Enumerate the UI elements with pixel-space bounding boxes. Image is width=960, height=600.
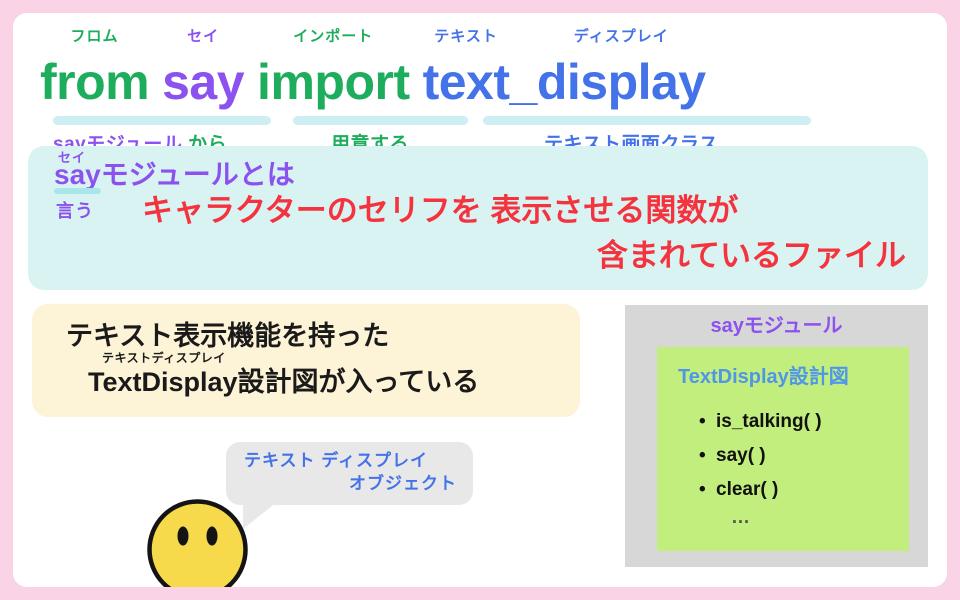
- code-title-block: フロムfromセイsayインポートimportテキストtext_ディスプレイdi…: [28, 28, 938, 158]
- code-token-underscore: _: [510, 54, 537, 110]
- method-list-ellipsis: …: [731, 507, 752, 529]
- code-token-from-text: from: [40, 54, 149, 110]
- method-name: say( ): [716, 445, 766, 466]
- ruby-text: テキスト: [434, 29, 498, 45]
- list-item: •say( ): [699, 439, 822, 473]
- ruby-sei: セイ: [58, 141, 86, 175]
- code-token-say: セイsay: [162, 54, 244, 110]
- definition-line-2: 含まれているファイル: [597, 237, 906, 275]
- slide-root: フロムfromセイsayインポートimportテキストtext_ディスプレイdi…: [0, 0, 960, 600]
- ruby-say: セイ: [187, 29, 219, 45]
- method-name: clear( ): [716, 479, 778, 500]
- say-module-panel: sayモジュール TextDisplay設計図 •is_talking( ) •…: [625, 305, 928, 567]
- bubble-line-2: オブジェクト: [349, 473, 457, 495]
- code-token-display-text: display: [537, 54, 706, 110]
- text-display-description-box: テキスト表示機能を持った テキストディスプレイ TextDisplay設計図が入…: [32, 304, 580, 417]
- method-list: •is_talking( ) •say( ) •clear( ): [699, 405, 822, 507]
- code-statement: フロムfromセイsayインポートimportテキストtext_ディスプレイdi…: [40, 54, 706, 110]
- ruby-from: フロム: [71, 29, 119, 45]
- say-keyword: セイ say: [54, 158, 101, 192]
- bubble-line-1: テキスト ディスプレイ: [244, 450, 428, 472]
- list-item: •clear( ): [699, 473, 822, 507]
- ruby-display: ディスプレイ: [574, 29, 669, 45]
- code-token-text-text: text: [423, 54, 510, 110]
- underline-bar-text-display: [483, 116, 811, 125]
- ruby-text-display: テキストディスプレイ: [102, 351, 226, 365]
- smiley-face-icon: [146, 498, 249, 587]
- underline-bar-import: [293, 116, 468, 125]
- slide-canvas: フロムfromセイsayインポートimportテキストtext_ディスプレイdi…: [13, 13, 947, 587]
- method-name: is_talking( ): [716, 411, 822, 432]
- ruby-import: インポート: [293, 29, 373, 45]
- bullet-icon: •: [699, 473, 716, 507]
- module-panel-title: sayモジュール: [625, 313, 928, 339]
- say-module-heading-rest: モジュールとは: [101, 159, 295, 190]
- say-module-definition-box: セイ say モジュールとは 言う キャラクターのセリフを 表示させる関数が 含…: [28, 146, 928, 290]
- code-token-from: フロムfrom: [40, 54, 149, 110]
- list-item: •is_talking( ): [699, 405, 822, 439]
- class-box-title: TextDisplay設計図: [678, 364, 849, 390]
- text-display-class-box: TextDisplay設計図 •is_talking( ) •say( ) •c…: [657, 347, 909, 551]
- definition-line-1: キャラクターのセリフを 表示させる関数が: [142, 192, 738, 230]
- bullet-icon: •: [699, 439, 716, 473]
- code-token-text: テキストtext: [423, 54, 510, 110]
- say-module-heading: セイ say モジュールとは: [54, 158, 295, 192]
- object-speech-bubble: テキスト ディスプレイ オブジェクト: [226, 442, 473, 505]
- code-token-import-text: import: [257, 54, 410, 110]
- iu-reading: 言う: [56, 200, 94, 222]
- code-token-display: ディスプレイdisplay: [537, 54, 706, 110]
- code-token-say-text: say: [162, 54, 244, 110]
- underline-bar-from-say: [53, 116, 271, 125]
- bullet-icon: •: [699, 405, 716, 439]
- description-line-2: TextDisplay設計図が入っている: [88, 366, 479, 398]
- code-token-import: インポートimport: [257, 54, 410, 110]
- description-line-1: テキスト表示機能を持った: [66, 320, 389, 352]
